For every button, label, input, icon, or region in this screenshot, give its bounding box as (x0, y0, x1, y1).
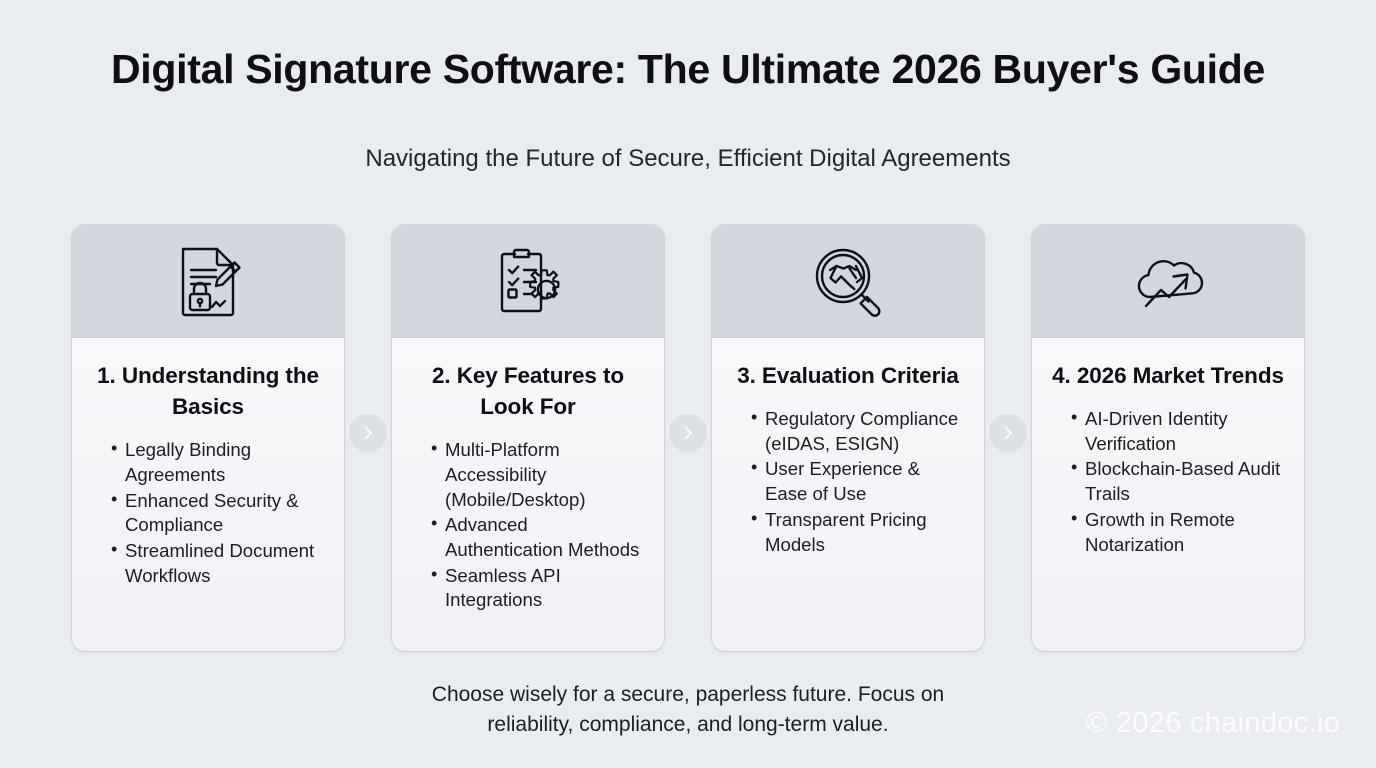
list-item: Growth in Remote Notarization (1071, 508, 1284, 557)
list-item: Seamless API Integrations (431, 564, 644, 613)
card-1[interactable]: 1. Understanding the Basics Legally Bind… (72, 225, 344, 651)
page-title: Digital Signature Software: The Ultimate… (0, 47, 1376, 92)
connector-1-to-2 (349, 414, 387, 452)
card-2[interactable]: 2. Key Features to Look For Multi-Platfo… (392, 225, 664, 651)
footer-note: Choose wisely for a secure, paperless fu… (0, 680, 1376, 740)
list-item: Streamlined Document Workflows (111, 539, 324, 588)
connector-3-to-4 (989, 414, 1027, 452)
footer-line-2: reliability, compliance, and long-term v… (330, 710, 1046, 740)
list-item: Legally Binding Agreements (111, 438, 324, 487)
card-4-list: AI-Driven Identity Verification Blockcha… (1052, 407, 1284, 557)
card-1-icon-band (72, 225, 344, 338)
chevron-right-icon (679, 424, 697, 442)
card-2-list: Multi-Platform Accessibility (Mobile/Des… (412, 438, 644, 613)
card-1-heading: 1. Understanding the Basics (92, 360, 324, 422)
card-2-icon-band (392, 225, 664, 338)
chevron-right-icon (999, 424, 1017, 442)
card-4-icon-band (1032, 225, 1304, 338)
list-item: Blockchain-Based Audit Trails (1071, 457, 1284, 506)
clipboard-checklist-gear-icon (484, 237, 572, 325)
magnifier-handshake-icon (804, 237, 892, 325)
card-3-heading: 3. Evaluation Criteria (732, 360, 964, 391)
footer-line-1: Choose wisely for a secure, paperless fu… (330, 680, 1046, 710)
card-4[interactable]: 4. 2026 Market Trends AI-Driven Identity… (1032, 225, 1304, 651)
header: Digital Signature Software: The Ultimate… (0, 0, 1376, 174)
list-item: Enhanced Security & Compliance (111, 489, 324, 538)
cloud-growth-arrow-icon (1124, 237, 1212, 325)
list-item: User Experience & Ease of Use (751, 457, 964, 506)
card-4-heading: 4. 2026 Market Trends (1052, 360, 1284, 391)
list-item: Multi-Platform Accessibility (Mobile/Des… (431, 438, 644, 512)
card-3-body: 3. Evaluation Criteria Regulatory Compli… (712, 338, 984, 651)
card-1-body: 1. Understanding the Basics Legally Bind… (72, 338, 344, 651)
card-2-body: 2. Key Features to Look For Multi-Platfo… (392, 338, 664, 651)
chevron-right-icon (359, 424, 377, 442)
card-4-body: 4. 2026 Market Trends AI-Driven Identity… (1032, 338, 1304, 651)
connector-2-to-3 (669, 414, 707, 452)
list-item: Transparent Pricing Models (751, 508, 964, 557)
infographic-root: Digital Signature Software: The Ultimate… (0, 0, 1376, 768)
list-item: Advanced Authentication Methods (431, 513, 644, 562)
card-2-heading: 2. Key Features to Look For (412, 360, 644, 422)
card-3-icon-band (712, 225, 984, 338)
card-3-list: Regulatory Compliance (eIDAS, ESIGN) Use… (732, 407, 964, 557)
card-3[interactable]: 3. Evaluation Criteria Regulatory Compli… (712, 225, 984, 651)
list-item: Regulatory Compliance (eIDAS, ESIGN) (751, 407, 964, 456)
list-item: AI-Driven Identity Verification (1071, 407, 1284, 456)
signed-document-lock-pen-icon (164, 237, 252, 325)
card-1-list: Legally Binding Agreements Enhanced Secu… (92, 438, 324, 588)
page-subtitle: Navigating the Future of Secure, Efficie… (0, 92, 1376, 174)
